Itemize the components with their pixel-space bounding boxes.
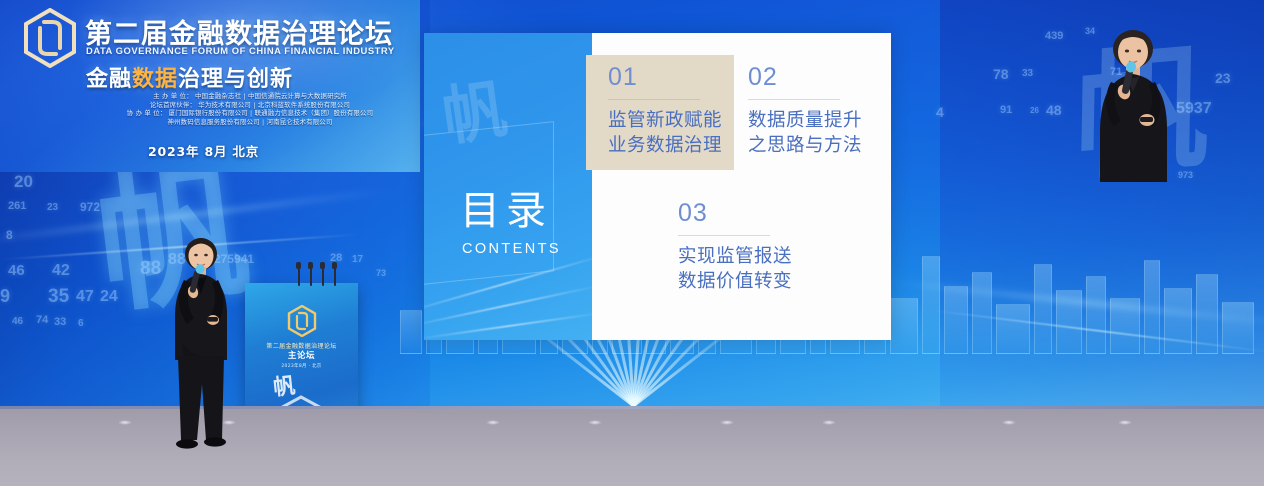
toc-item-01-rule bbox=[608, 99, 700, 100]
forum-banner: 第二届金融数据治理论坛 DATA GOVERNANCE FORUM OF CHI… bbox=[0, 0, 420, 172]
toc-item-02[interactable]: 02 数据质量提升 之思路与方法 bbox=[748, 65, 862, 158]
toc-item-03-number: 03 bbox=[678, 201, 792, 226]
toc-item-01[interactable]: 01 监管新政赋能 业务数据治理 bbox=[608, 65, 722, 158]
organizer-line: 主 办 单 位： 中国金融杂志社 | 中国信通院云计算与大数据研究所 bbox=[100, 92, 400, 101]
toc-item-02-number: 02 bbox=[748, 65, 862, 90]
speaker-pip-video bbox=[1081, 22, 1185, 182]
slide-contents-title-en: CONTENTS bbox=[462, 241, 561, 257]
floor-light-spot bbox=[486, 420, 500, 425]
banner-subtitle-accent: 数据 bbox=[132, 67, 178, 92]
backdrop-number: 48 bbox=[1046, 102, 1062, 118]
organizer-line: 神州数码信息服务股份有限公司 | 河南昆仑技术有限公司 bbox=[100, 118, 400, 127]
banner-subtitle-post: 治理与创新 bbox=[178, 67, 293, 92]
speaker-pip-figure bbox=[1081, 22, 1185, 182]
backdrop-number: 23 bbox=[1215, 70, 1231, 86]
slide-toc-panel: 01 监管新政赋能 业务数据治理 02 数据质量提升 之思路与方法 03 实现监… bbox=[592, 33, 891, 340]
toc-item-02-line2: 之思路与方法 bbox=[748, 133, 862, 158]
podium-hexagon-logo-icon bbox=[287, 305, 317, 337]
backdrop-number: 972 bbox=[80, 200, 100, 214]
toc-item-01-line1: 监管新政赋能 bbox=[608, 108, 722, 133]
floor-light-spot bbox=[822, 420, 836, 425]
toc-item-01-line2: 业务数据治理 bbox=[608, 133, 722, 158]
banner-organizer-list: 主 办 单 位： 中国金融杂志社 | 中国信通院云计算与大数据研究所 论坛首席伙… bbox=[100, 92, 400, 126]
backdrop-number: 26 bbox=[1030, 106, 1039, 115]
slide-calligraphy: 帆 bbox=[436, 60, 504, 159]
backdrop-number: 439 bbox=[1045, 30, 1063, 42]
floor-light-spot bbox=[118, 420, 132, 425]
toc-item-03-rule bbox=[678, 235, 770, 236]
slide-contents-panel: 帆 目录 CONTENTS bbox=[424, 33, 592, 340]
speaker-figure bbox=[158, 234, 244, 474]
presentation-slide: 帆 目录 CONTENTS 01 监管新政赋能 业务数据治理 02 数据质量提升… bbox=[424, 33, 891, 340]
slide-panel-light-ray bbox=[424, 284, 592, 327]
backdrop-number: 33 bbox=[1022, 68, 1033, 79]
toc-item-02-line1: 数据质量提升 bbox=[748, 108, 862, 133]
stage-broadcast-scene: 帆 帆 819643717682315497432026123972846428… bbox=[0, 0, 1264, 486]
banner-title-en: DATA GOVERNANCE FORUM OF CHINA FINANCIAL… bbox=[86, 45, 395, 56]
toc-item-03[interactable]: 03 实现监管报送 数据价值转变 bbox=[678, 201, 792, 294]
banner-date-location: 2023年 8月 北京 bbox=[148, 141, 259, 160]
organizer-line: 协 办 单 位： 厦门国际银行股份有限公司 | 联通融力信息技术（集团）股份有限… bbox=[100, 109, 400, 118]
banner-subtitle-pre: 金融 bbox=[86, 67, 132, 92]
floor-light-spot bbox=[588, 420, 602, 425]
speaker-on-stage bbox=[158, 234, 244, 474]
slide-contents-title-cn: 目录 bbox=[460, 191, 552, 231]
forum-hexagon-logo-icon bbox=[22, 8, 78, 68]
toc-item-01-number: 01 bbox=[608, 65, 722, 90]
backdrop-number: 78 bbox=[993, 66, 1009, 82]
organizer-line: 论坛首席伙伴： 华为技术有限公司 | 北京科蓝软件系统股份有限公司 bbox=[100, 101, 400, 110]
podium-heading-tiny: 2023年8月 · 北京 bbox=[245, 363, 358, 369]
backdrop-number: 91 bbox=[1000, 104, 1012, 116]
banner-subtitle: 金融数据治理与创新 bbox=[86, 61, 293, 93]
backdrop-number: 261 bbox=[8, 200, 26, 212]
toc-item-02-rule bbox=[748, 99, 840, 100]
backdrop-number: 20 bbox=[14, 172, 33, 192]
floor-light-spot bbox=[720, 420, 734, 425]
podium-heading-big: 主论坛 bbox=[245, 349, 358, 361]
toc-item-03-line2: 数据价值转变 bbox=[678, 269, 792, 294]
floor-light-spot bbox=[1002, 420, 1016, 425]
backdrop-number: 4 bbox=[936, 104, 944, 120]
floor-light-spot bbox=[1118, 420, 1132, 425]
backdrop-number: 23 bbox=[47, 202, 58, 213]
toc-item-03-line1: 实现监管报送 bbox=[678, 244, 792, 269]
